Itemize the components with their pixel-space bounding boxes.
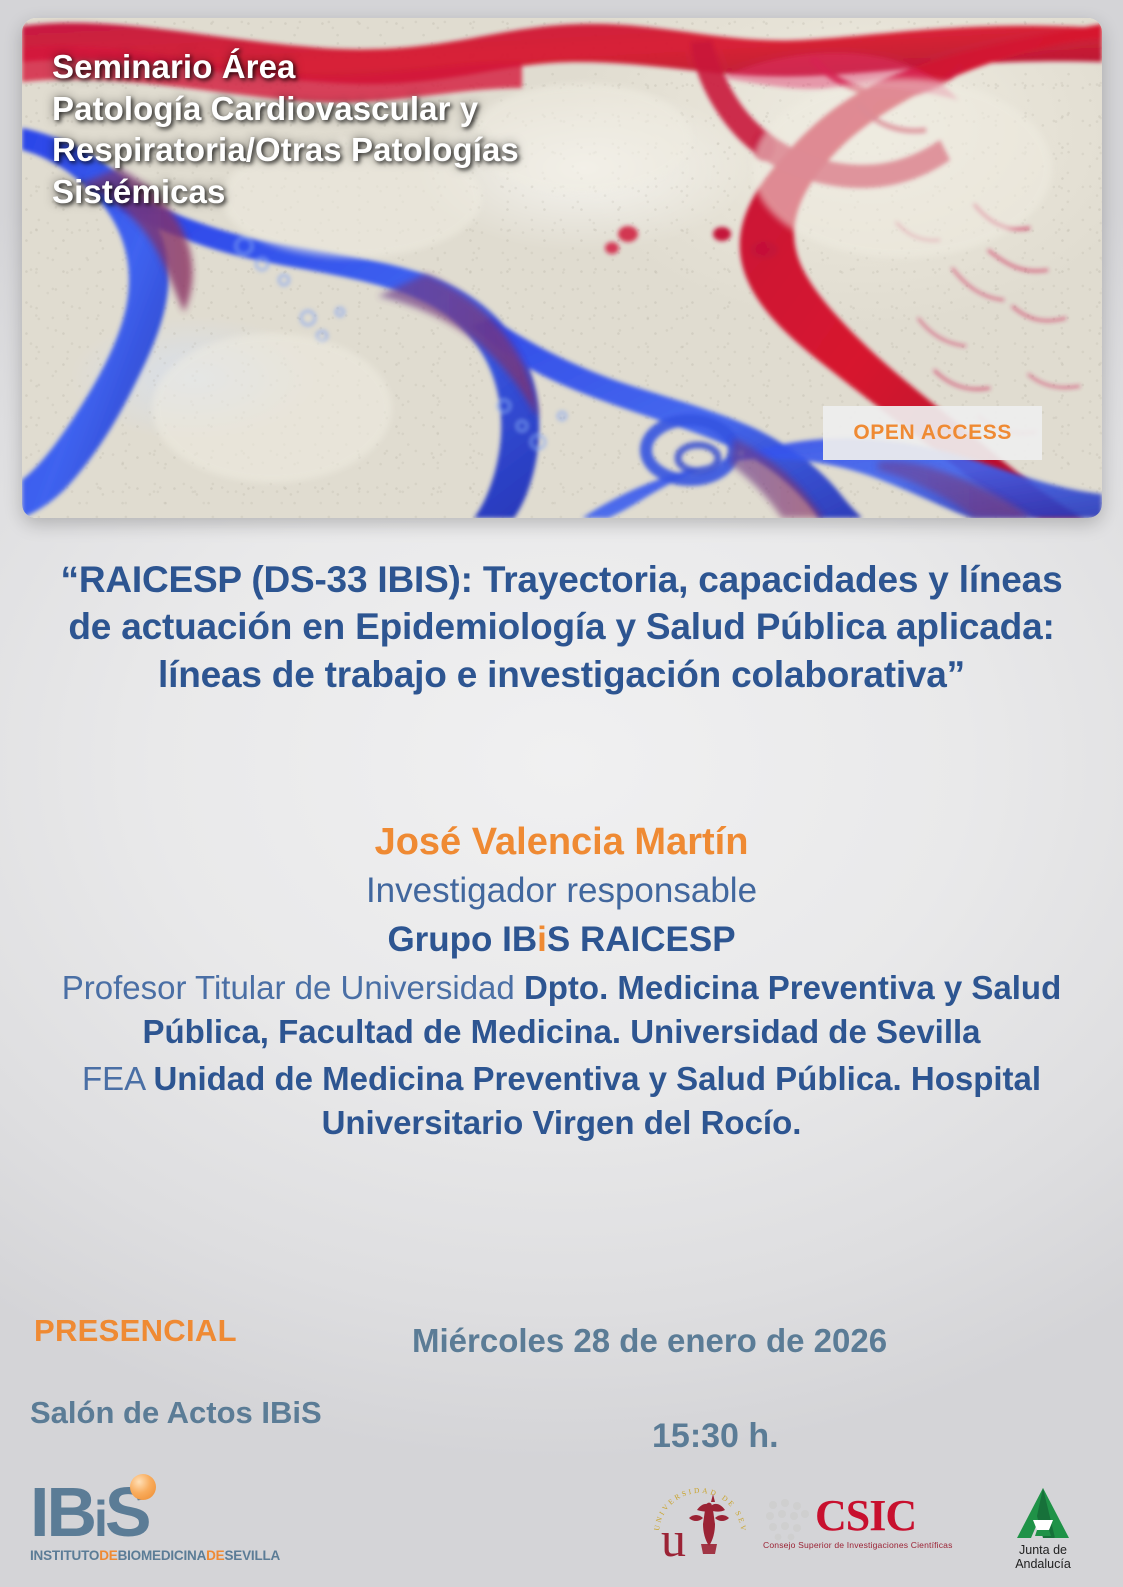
hero-image-panel: Seminario Área Patología Cardiovascular … <box>22 18 1102 518</box>
ibis-sphere-dot-icon <box>130 1474 156 1500</box>
speaker-group-suffix: S RAICESP <box>547 920 736 959</box>
event-venue: Salón de Actos IBiS <box>30 1395 322 1431</box>
event-time: 15:30 h. <box>652 1417 779 1456</box>
affiliation-2-light: FEA <box>82 1060 154 1097</box>
junta-de-andalucia-logo: Junta de Andalucía <box>993 1486 1093 1571</box>
speaker-block: José Valencia Martín Investigador respon… <box>30 820 1093 1144</box>
svg-text:u: u <box>661 1511 686 1567</box>
affiliation-1-light: Profesor Titular de Universidad <box>62 969 524 1006</box>
csic-subtitle: Consejo Superior de Investigaciones Cien… <box>763 1540 993 1550</box>
speaker-group: Grupo IBiS RAICESP <box>30 917 1093 963</box>
ibis-tagline-de-2: DE <box>206 1548 224 1563</box>
partner-logos: UNIVERSIDAD DE SEVILLA u CSIC Consejo Su… <box>645 1482 1095 1577</box>
csic-logo: CSIC Consejo Superior de Investigaciones… <box>763 1496 978 1556</box>
speaker-role: Investigador responsable <box>30 869 1093 914</box>
universidad-de-sevilla-logo: UNIVERSIDAD DE SEVILLA u <box>645 1484 753 1572</box>
ibis-mark-1: IB <box>30 1473 94 1551</box>
speaker-group-i: i <box>537 920 547 959</box>
ibis-mark-i: i <box>94 1491 105 1547</box>
junta-a-icon <box>993 1486 1093 1540</box>
speaker-affiliation-2: FEA Unidad de Medicina Preventiva y Salu… <box>30 1057 1093 1144</box>
csic-mark-icon <box>763 1498 811 1542</box>
speaker-group-prefix: Grupo IB <box>387 920 537 959</box>
page-title: “RAICESP (DS-33 IBIS): Trayectoria, capa… <box>55 556 1068 698</box>
affiliation-2-bold: Unidad de Medicina Preventiva y Salud Pú… <box>153 1060 1041 1141</box>
ibis-logo: IBiS INSTITUTODEBIOMEDICINADESEVILLA <box>30 1478 320 1563</box>
event-modality: PRESENCIAL <box>34 1313 237 1349</box>
seminar-title-line-3: Respiratoria/Otras Patologías <box>52 129 672 171</box>
seminar-title-line-4: Sistémicas <box>52 171 672 213</box>
junta-label: Junta de Andalucía <box>993 1543 1093 1571</box>
ibis-wordmark: IBiS <box>30 1478 320 1546</box>
open-access-badge: OPEN ACCESS <box>823 406 1042 460</box>
speaker-affiliation-1: Profesor Titular de Universidad Dpto. Me… <box>30 966 1093 1053</box>
seminar-series-title: Seminario Área Patología Cardiovascular … <box>52 46 672 212</box>
csic-wordmark: CSIC <box>815 1490 916 1541</box>
ibis-tagline-3: SEVILLA <box>224 1548 280 1563</box>
seminar-title-line-1: Seminario Área <box>52 46 672 88</box>
seminar-title-line-2: Patología Cardiovascular y <box>52 88 672 130</box>
event-date: Miércoles 28 de enero de 2026 <box>412 1322 887 1360</box>
speaker-name: José Valencia Martín <box>30 820 1093 865</box>
